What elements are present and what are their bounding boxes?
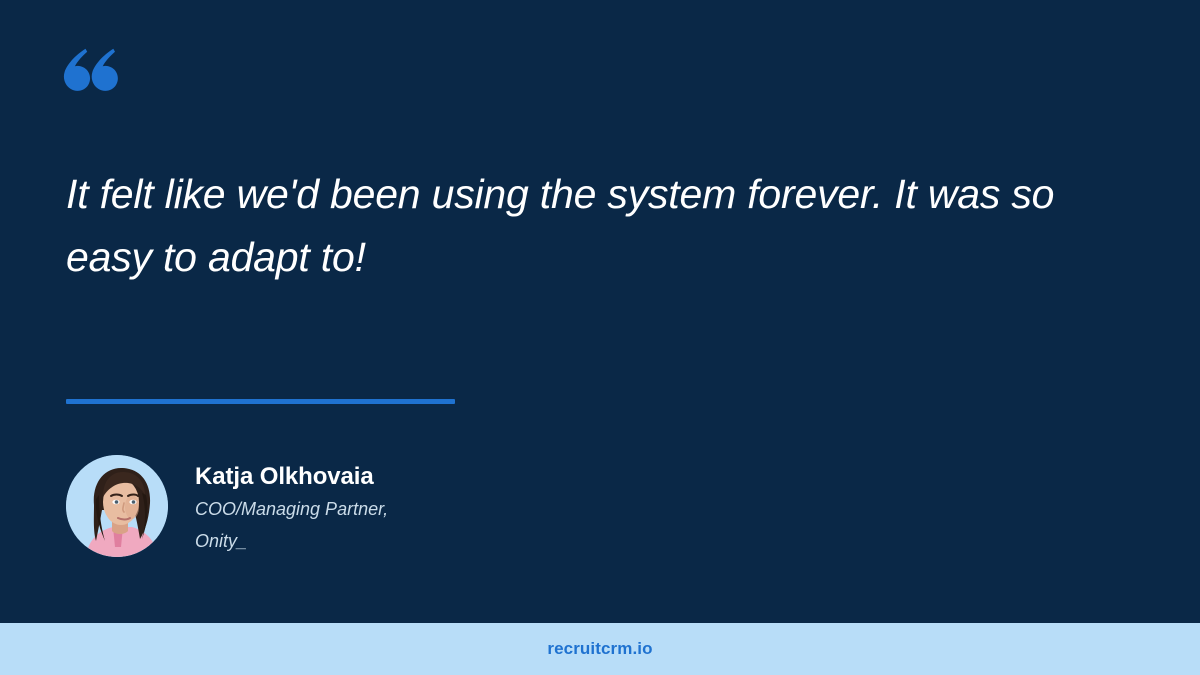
attribution-block: Katja Olkhovaia COO/Managing Partner, On…	[66, 455, 388, 557]
author-name: Katja Olkhovaia	[195, 462, 388, 492]
footer-url[interactable]: recruitcrm.io	[547, 639, 652, 659]
quote-text: It felt like we'd been using the system …	[66, 163, 1056, 289]
double-quote-open-icon	[62, 48, 132, 118]
author-role-line-1: COO/Managing Partner,	[195, 494, 388, 524]
avatar	[66, 455, 168, 557]
attribution-text: Katja Olkhovaia COO/Managing Partner, On…	[195, 455, 388, 556]
footer-bar: recruitcrm.io	[0, 623, 1200, 675]
author-role-line-2: Onity_	[195, 526, 388, 556]
divider	[66, 399, 455, 404]
testimonial-slide: It felt like we'd been using the system …	[0, 0, 1200, 675]
